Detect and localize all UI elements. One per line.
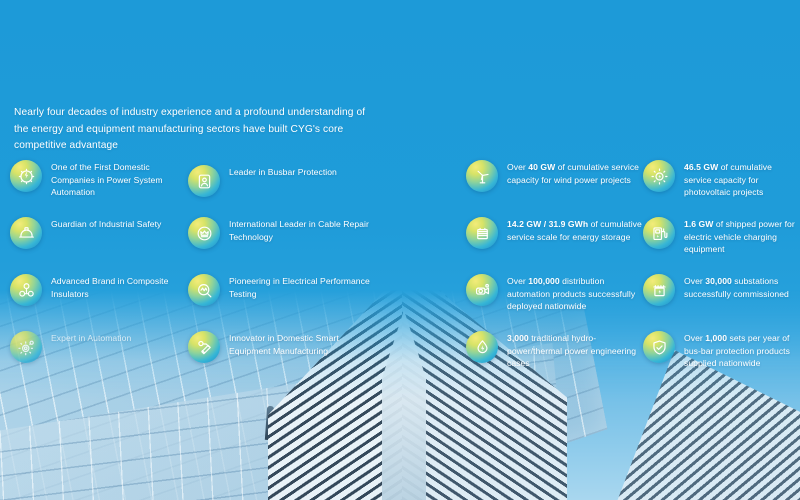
list-item[interactable]: Pioneering in Electrical Performance Tes… [188, 274, 373, 306]
list-item-label: One of the First Domestic Companies in P… [51, 160, 190, 199]
list-item[interactable]: 3,000 traditional hydro-power/thermal po… [466, 331, 646, 370]
hard-hat-icon [10, 217, 42, 249]
list-item-label: International Leader in Cable Repair Tec… [229, 217, 373, 243]
list-item-label: Guardian of Industrial Safety [51, 217, 161, 231]
list-item-label: Over 30,000 substations successfully com… [684, 274, 800, 300]
list-item[interactable]: Expert in Automation [10, 331, 131, 363]
list-item-label: Advanced Brand in Composite Insulators [51, 274, 190, 300]
list-item[interactable]: 14.2 GW / 31.9 GWh of cumulative service… [466, 217, 646, 249]
list-item[interactable]: One of the First Domestic Companies in P… [10, 160, 190, 199]
substation-icon [643, 274, 675, 306]
power-automation-icon [10, 160, 42, 192]
busbar-protection-icon [188, 165, 220, 197]
distribution-automation-icon [466, 274, 498, 306]
list-item-label: 1.6 GW of shipped power for electric veh… [684, 217, 800, 256]
list-item-label: Over 100,000 distribution automation pro… [507, 274, 646, 313]
hydro-thermal-power-icon [466, 331, 498, 363]
list-item[interactable]: Over 40 GW of cumulative service capacit… [466, 160, 646, 192]
list-item[interactable]: Over 30,000 substations successfully com… [643, 274, 800, 306]
list-item-label: Innovator in Domestic Smart Equipment Ma… [229, 331, 373, 357]
list-item-label: Leader in Busbar Protection [229, 165, 337, 179]
list-item-label: Pioneering in Electrical Performance Tes… [229, 274, 373, 300]
infographic-banner: Nearly four decades of industry experien… [0, 0, 800, 500]
list-item-label: 14.2 GW / 31.9 GWh of cumulative service… [507, 217, 646, 243]
list-item[interactable]: Leader in Busbar Protection [188, 165, 337, 197]
list-item[interactable]: International Leader in Cable Repair Tec… [188, 217, 373, 249]
list-item[interactable]: Guardian of Industrial Safety [10, 217, 161, 249]
list-item[interactable]: Advanced Brand in Composite Insulators [10, 274, 190, 306]
list-item-label: Over 1,000 sets per year of bus-bar prot… [684, 331, 800, 370]
list-item[interactable]: 46.5 GW of cumulative service capacity f… [643, 160, 800, 199]
intro-paragraph: Nearly four decades of industry experien… [14, 105, 374, 155]
list-item[interactable]: 1.6 GW of shipped power for electric veh… [643, 217, 800, 256]
wind-turbine-icon [466, 160, 498, 192]
gear-automation-icon [10, 331, 42, 363]
list-item-label: 46.5 GW of cumulative service capacity f… [684, 160, 800, 199]
list-item[interactable]: Over 1,000 sets per year of bus-bar prot… [643, 331, 800, 370]
composite-insulator-icon [10, 274, 42, 306]
list-item-label: Expert in Automation [51, 331, 131, 345]
list-item[interactable]: Over 100,000 distribution automation pro… [466, 274, 646, 313]
photovoltaic-sun-icon [643, 160, 675, 192]
ev-charging-icon [643, 217, 675, 249]
cable-repair-crown-icon [188, 217, 220, 249]
shield-protection-icon [643, 331, 675, 363]
list-item-label: Over 40 GW of cumulative service capacit… [507, 160, 646, 186]
list-item-label: 3,000 traditional hydro-power/thermal po… [507, 331, 646, 370]
energy-storage-icon [466, 217, 498, 249]
smart-equipment-icon [188, 331, 220, 363]
building-photo [0, 290, 800, 500]
electrical-testing-icon [188, 274, 220, 306]
list-item[interactable]: Innovator in Domestic Smart Equipment Ma… [188, 331, 373, 363]
